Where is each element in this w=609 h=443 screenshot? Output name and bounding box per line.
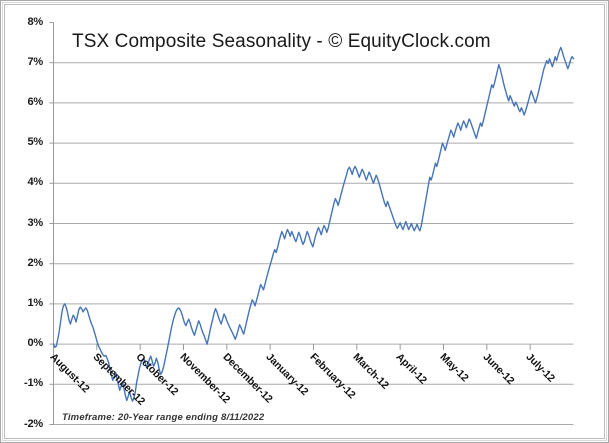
y-tick-label: 8% [9, 16, 43, 28]
y-tick-label: -2% [9, 418, 43, 430]
y-tick-label: 2% [9, 257, 43, 269]
y-tick-label: 5% [9, 136, 43, 148]
y-tick-label: 3% [9, 217, 43, 229]
seasonality-chart-container: 8%7%6%5%4%3%2%1%0%-1%-2% August-12Septem… [0, 0, 609, 443]
y-tick-label: 1% [9, 297, 43, 309]
chart-plot-area [0, 0, 609, 443]
y-tick-label: 6% [9, 96, 43, 108]
y-tick-label: 4% [9, 176, 43, 188]
chart-footnote: Timeframe: 20-Year range ending 8/11/202… [62, 412, 264, 423]
y-tick-label: 7% [9, 56, 43, 68]
y-tick-label: 0% [9, 337, 43, 349]
chart-title: TSX Composite Seasonality - © EquityCloc… [72, 31, 491, 53]
x-tickmarks-group [54, 344, 531, 350]
y-tick-label: -1% [9, 377, 43, 389]
